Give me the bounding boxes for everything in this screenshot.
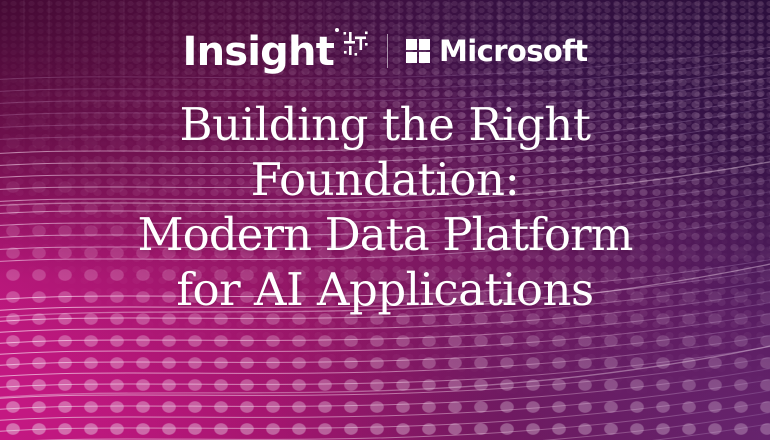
card-content: Insight bbox=[0, 0, 770, 440]
logo-divider bbox=[387, 34, 388, 68]
title-line-1: Building the Right bbox=[35, 97, 735, 152]
insight-logo: Insight bbox=[183, 28, 372, 74]
microsoft-logo: Microsoft bbox=[406, 37, 587, 66]
microsoft-square-top-left bbox=[406, 39, 417, 50]
title-line-2: Foundation: bbox=[35, 152, 735, 207]
microsoft-square-top-right bbox=[419, 39, 430, 50]
insight-period-dot bbox=[335, 28, 339, 32]
title-line-3: Modern Data Platform bbox=[35, 207, 735, 262]
page-title: Building the Right Foundation: Modern Da… bbox=[35, 97, 735, 317]
title-card: Insight bbox=[0, 0, 770, 440]
microsoft-wordmark: Microsoft bbox=[439, 37, 587, 66]
microsoft-square-bottom-right bbox=[419, 52, 430, 63]
title-line-4: for AI Applications bbox=[35, 262, 735, 317]
logo-bar: Insight bbox=[183, 27, 588, 75]
microsoft-squares-icon bbox=[406, 39, 430, 63]
microsoft-square-bottom-left bbox=[406, 52, 417, 63]
insight-wordmark: Insight bbox=[183, 32, 335, 72]
insight-slider-mark-icon bbox=[341, 29, 371, 63]
